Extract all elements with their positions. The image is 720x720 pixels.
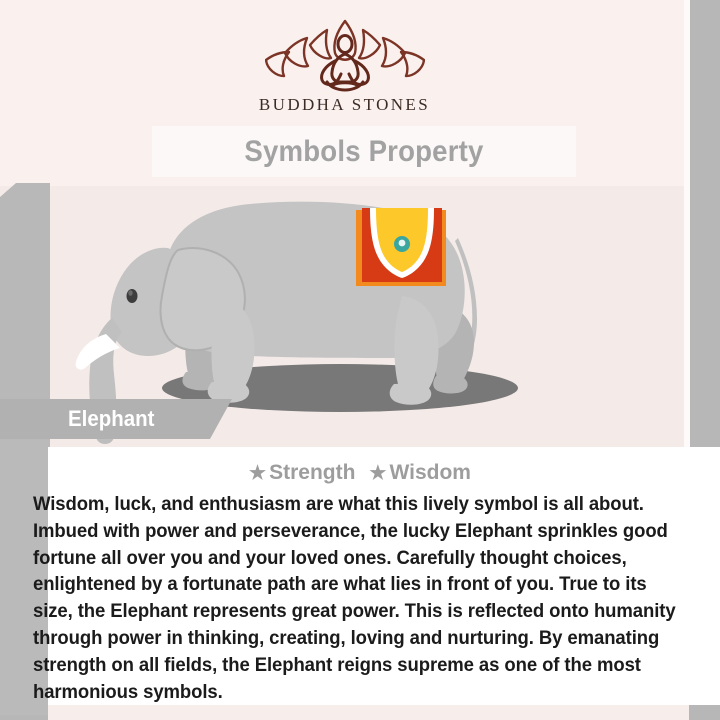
attribute-strength-label: Strength xyxy=(269,461,355,484)
page-title: Symbols Property xyxy=(244,135,483,169)
symbol-name: Elephant xyxy=(68,406,154,432)
lotus-meditation-icon xyxy=(265,16,425,94)
attribute-wisdom: ★Wisdom xyxy=(369,461,471,484)
title-banner: Symbols Property xyxy=(152,126,576,177)
star-icon: ★ xyxy=(249,463,266,484)
star-icon: ★ xyxy=(369,463,386,484)
brand-name: BUDDHA STONES xyxy=(259,95,430,115)
symbol-name-banner: Elephant xyxy=(0,399,232,439)
bottom-edge-strip xyxy=(48,705,689,720)
symbol-info-card: BUDDHA STONES Symbols Property xyxy=(0,0,720,720)
symbol-attributes: ★Strength★Wisdom xyxy=(48,461,672,485)
attribute-wisdom-label: Wisdom xyxy=(389,461,470,484)
symbol-description: Wisdom, luck, and enthusiasm are what th… xyxy=(33,491,685,705)
description-card: ★Strength★Wisdom Wisdom, luck, and enthu… xyxy=(48,447,720,705)
brand-logo: BUDDHA STONES xyxy=(0,16,689,121)
attribute-strength: ★Strength xyxy=(249,461,355,484)
